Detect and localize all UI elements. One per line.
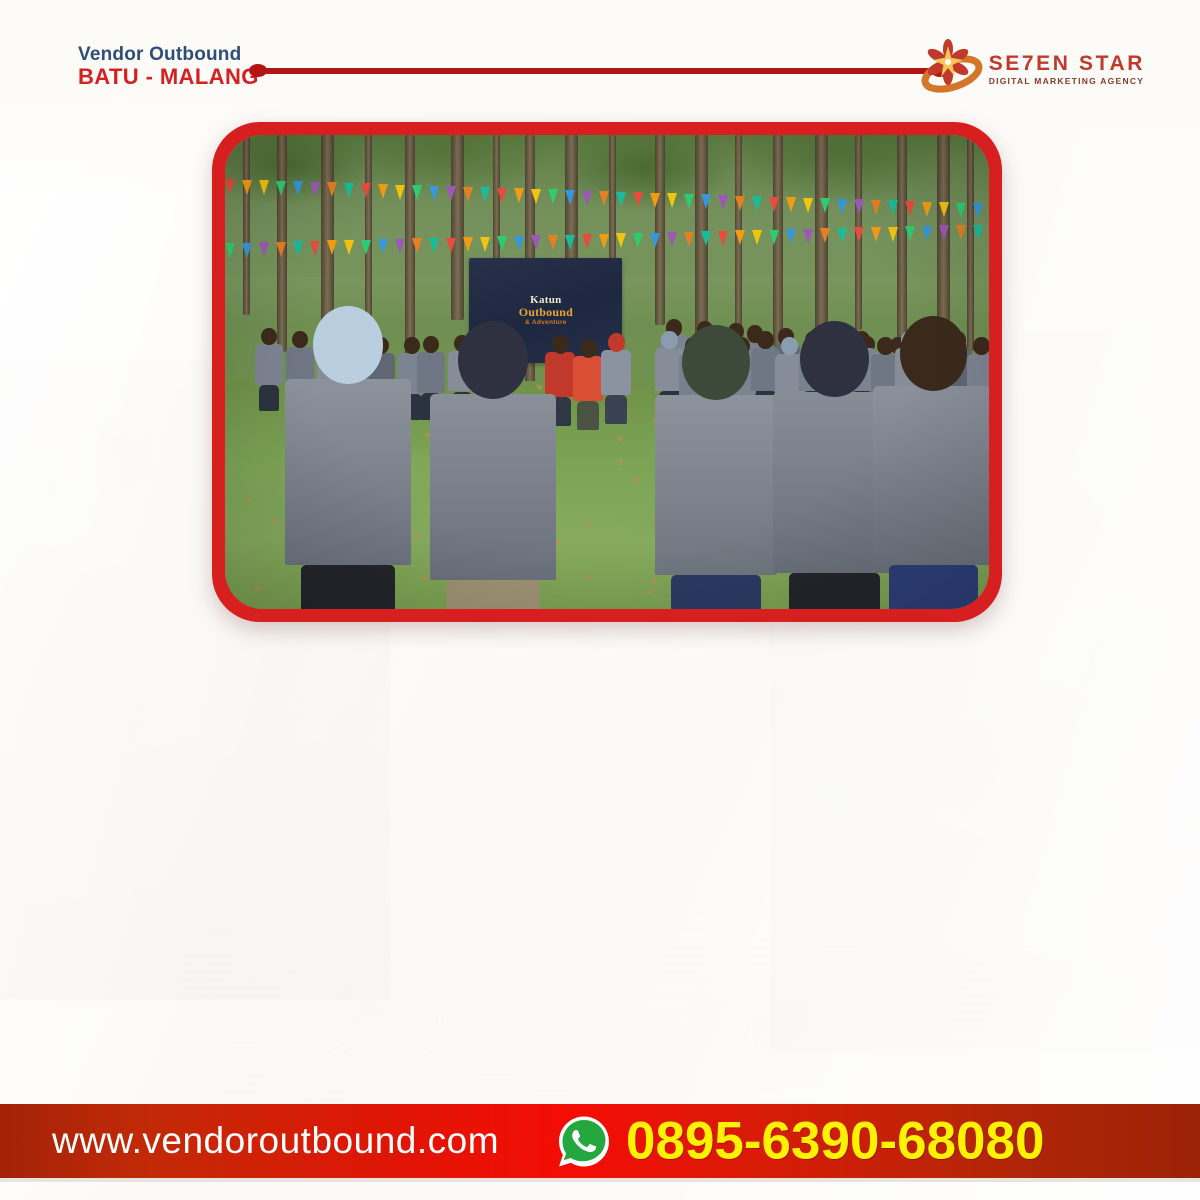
logo-title: SE7EN STAR [989,53,1145,74]
whatsapp-icon [556,1113,612,1169]
header: Vendor Outbound BATU - MALANG [0,0,1200,120]
footer-bottom-edge [0,1178,1200,1182]
agency-logo: SE7EN STAR DIGITAL MARKETING AGENCY [921,38,1145,98]
website-url[interactable]: www.vendoroutbound.com [52,1120,499,1162]
headline-group: VENDOR OUTBOUND BATU - MALANG [0,640,1200,960]
phone-number[interactable]: 0895-6390-68080 [626,1111,1045,1172]
brand-lockup: Vendor Outbound BATU - MALANG [78,44,259,90]
photo-participants [225,135,989,609]
footer-contact-bar: www.vendoroutbound.com 0895-6390-68080 [0,1104,1200,1178]
header-divider [249,64,949,76]
brand-line-1: Vendor Outbound [78,44,259,65]
hero-photo-frame: Katun Outbound & Adventure [212,122,1002,622]
seven-star-flower-swoosh-logo-icon [921,38,983,98]
brand-line-2: BATU - MALANG [78,65,259,90]
hero-photo: Katun Outbound & Adventure [225,135,989,609]
poster-canvas: Vendor Outbound BATU - MALANG [0,0,1200,1200]
whatsapp-contact[interactable]: 0895-6390-68080 [556,1111,1045,1172]
logo-text-block: SE7EN STAR DIGITAL MARKETING AGENCY [989,50,1145,86]
logo-subtitle: DIGITAL MARKETING AGENCY [989,77,1145,86]
divider-line [257,68,941,74]
